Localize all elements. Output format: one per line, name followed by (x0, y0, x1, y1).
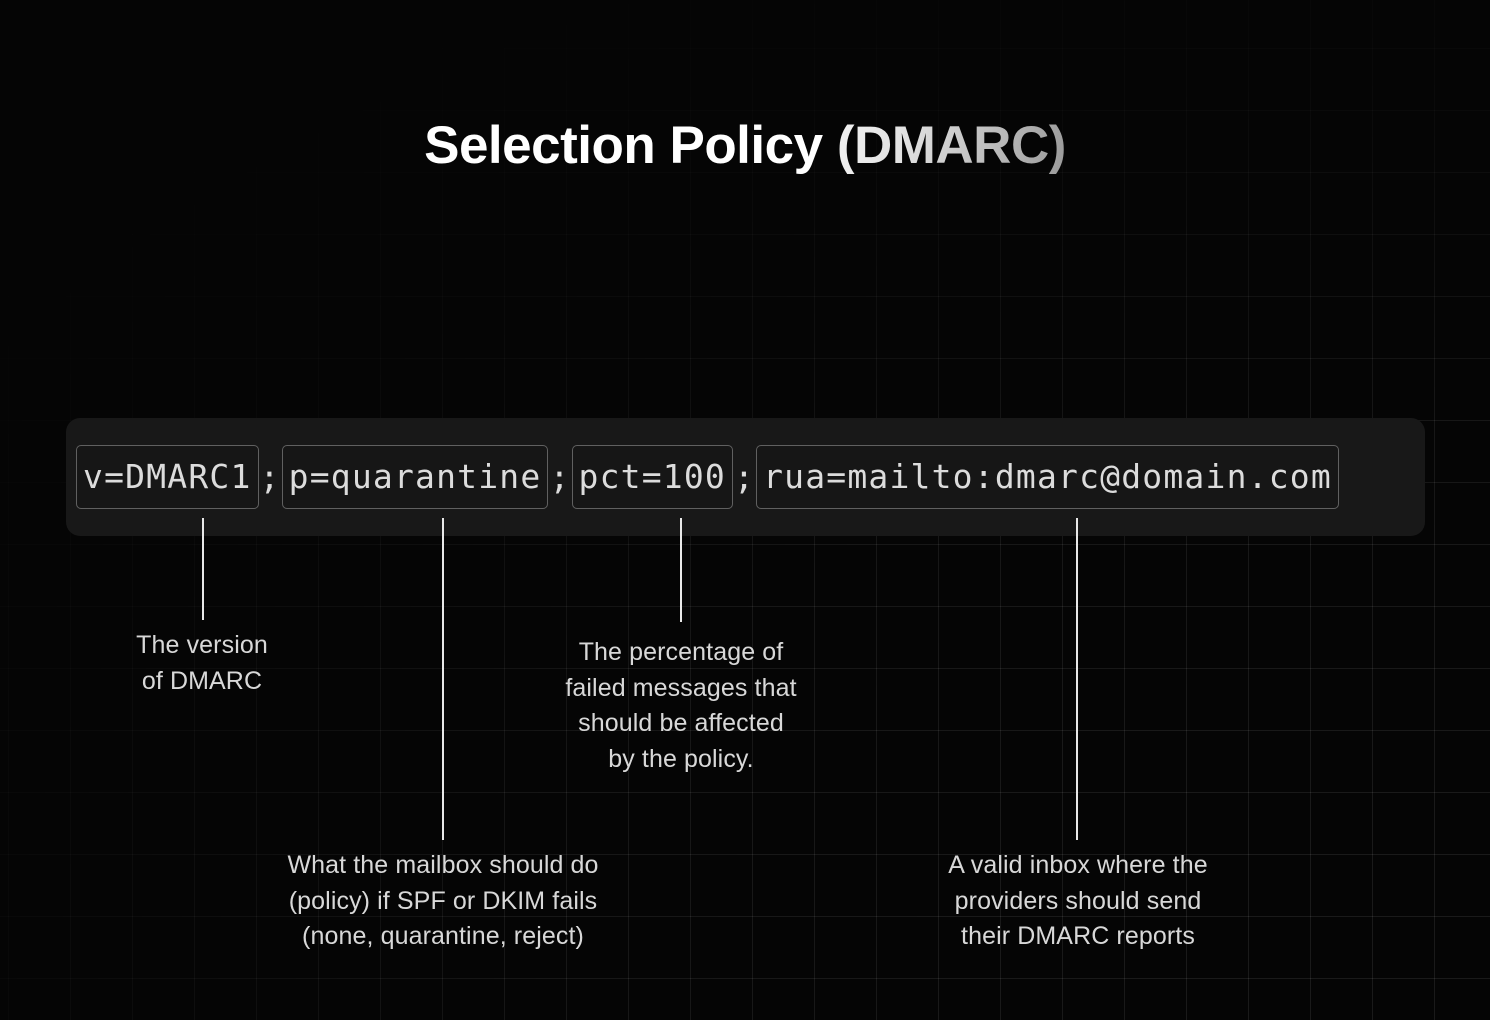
dmarc-separator-3: ; (733, 461, 756, 494)
page-title-sub: (DMARC) (837, 116, 1066, 175)
dmarc-separator-2: ; (548, 461, 571, 494)
annotation-rua: A valid inbox where the providers should… (898, 848, 1258, 955)
annotation-policy: What the mailbox should do (policy) if S… (236, 848, 650, 955)
annotation-version: The version of DMARC (86, 628, 318, 699)
page-title-main: Selection Policy (424, 116, 837, 175)
dmarc-segment-version[interactable]: v=DMARC1 (76, 445, 259, 509)
dmarc-record-panel: v=DMARC1;p=quarantine;pct=100;rua=mailto… (66, 418, 1425, 536)
dmarc-segment-policy[interactable]: p=quarantine (282, 445, 549, 509)
connector-line-version (202, 518, 204, 620)
connector-line-rua (1076, 518, 1078, 840)
annotation-percent: The percentage of failed messages that s… (516, 635, 846, 777)
dmarc-segment-percent[interactable]: pct=100 (572, 445, 733, 509)
dmarc-separator-1: ; (259, 461, 282, 494)
page-title: Selection Policy (DMARC) (0, 117, 1490, 175)
dmarc-record-line: v=DMARC1;p=quarantine;pct=100;rua=mailto… (76, 445, 1339, 509)
connector-line-policy (442, 518, 444, 840)
slide-canvas: Selection Policy (DMARC) v=DMARC1;p=quar… (0, 0, 1490, 1020)
connector-line-percent (680, 518, 682, 622)
dmarc-segment-rua[interactable]: rua=mailto:dmarc@domain.com (756, 445, 1339, 509)
